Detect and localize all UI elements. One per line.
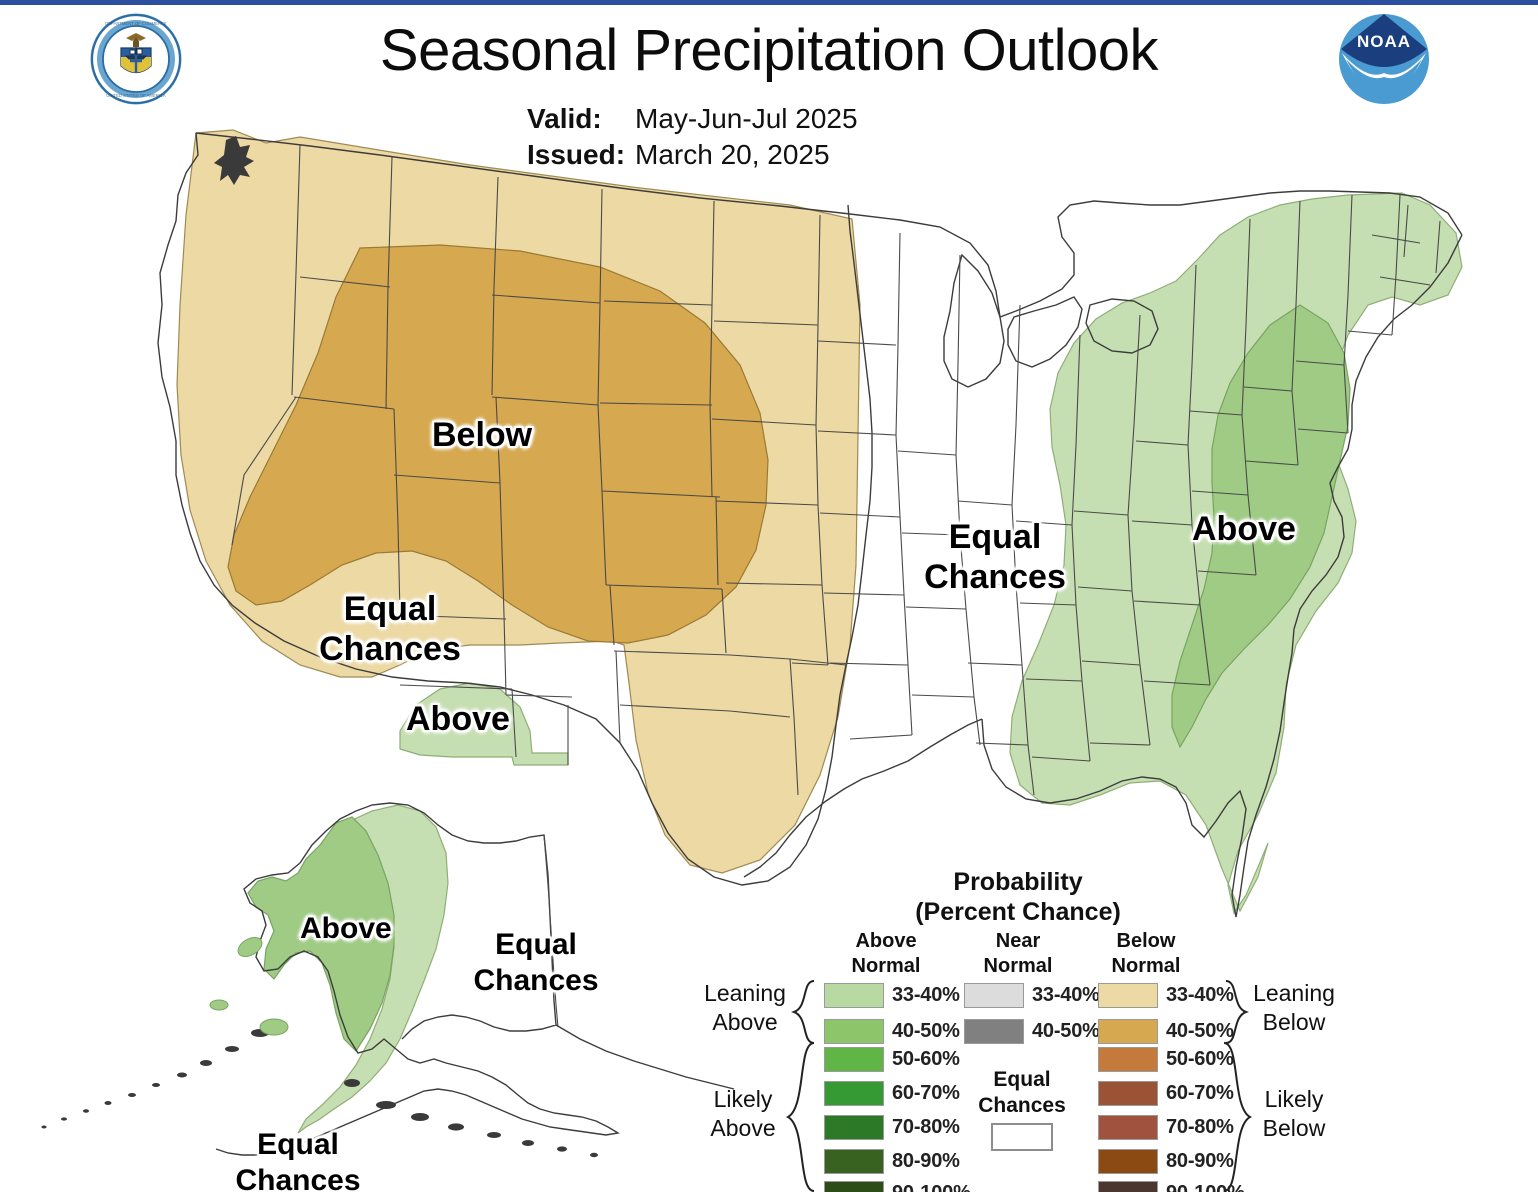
legend-likely-above-label: Likely Above — [700, 1085, 786, 1143]
eq-west-line2: Chances — [300, 629, 480, 669]
pct-above-33-40: 33-40% — [892, 983, 960, 1008]
pct-above-80-90: 80-90% — [892, 1149, 960, 1174]
pct-above-50-60: 50-60% — [892, 1047, 960, 1072]
map-label-alaska-equal-chances-ne: Equal Chances — [446, 927, 626, 999]
legend: Probability (Percent Chance) Above Norma… — [700, 867, 1340, 1192]
colhead-below-line1: Below — [1086, 929, 1206, 954]
likely-below-line1: Likely — [1250, 1085, 1338, 1114]
swatch-below-80-90 — [1098, 1149, 1158, 1174]
swatch-below-40-50 — [1098, 1019, 1158, 1044]
colhead-above-line2: Normal — [826, 954, 946, 979]
likely-above-line1: Likely — [700, 1085, 786, 1114]
eq-central-line1: Equal — [900, 517, 1090, 557]
map-label-alaska-equal-chances-sw: Equal Chances — [208, 1127, 388, 1192]
brace-leaning-above — [790, 979, 816, 1045]
leaning-below-line2: Below — [1248, 1008, 1340, 1037]
ak-eq-sw-line2: Chances — [208, 1163, 388, 1192]
pct-below-80-90: 80-90% — [1166, 1149, 1234, 1174]
swatch-below-70-80 — [1098, 1115, 1158, 1140]
likely-below-line2: Below — [1250, 1114, 1338, 1143]
ak-eq-ne-line1: Equal — [446, 927, 626, 963]
legend-equal-chances-swatch — [991, 1123, 1053, 1151]
map-label-above-southwest: Above — [406, 699, 510, 739]
map-label-equal-chances-central: Equal Chances — [900, 517, 1090, 597]
colhead-above-normal: Above Normal — [826, 929, 946, 979]
map-label-alaska-above: Above — [300, 909, 392, 949]
leaning-below-line1: Leaning — [1248, 979, 1340, 1008]
swatch-above-40-50 — [824, 1019, 884, 1044]
eq-central-line2: Chances — [900, 557, 1090, 597]
swatch-below-33-40 — [1098, 983, 1158, 1008]
swatch-above-70-80 — [824, 1115, 884, 1140]
pct-above-60-70: 60-70% — [892, 1081, 960, 1106]
swatch-near-33-40 — [964, 983, 1024, 1008]
map-label-above-east: Above — [1192, 509, 1296, 549]
pct-below-33-40: 33-40% — [1166, 983, 1234, 1008]
swatch-above-60-70 — [824, 1081, 884, 1106]
pct-below-60-70: 60-70% — [1166, 1081, 1234, 1106]
swatch-near-40-50 — [964, 1019, 1024, 1044]
brace-likely-above — [784, 1041, 816, 1192]
swatch-above-80-90 — [824, 1149, 884, 1174]
pct-below-70-80: 70-80% — [1166, 1115, 1234, 1140]
legend-likely-below-label: Likely Below — [1250, 1085, 1338, 1143]
legend-leaning-above-label: Leaning Above — [700, 979, 790, 1037]
ak-eq-ne-line2: Chances — [446, 963, 626, 999]
likely-above-line2: Above — [700, 1114, 786, 1143]
pct-near-33-40: 33-40% — [1032, 983, 1100, 1008]
legend-equal-chances-label: Equal Chances — [962, 1067, 1082, 1119]
precipitation-outlook-page: DEPARTMENT OF COMMERCE UNITED STATES OF … — [0, 0, 1538, 1192]
colhead-above-line1: Above — [826, 929, 946, 954]
legend-leaning-below-label: Leaning Below — [1248, 979, 1340, 1037]
colhead-near-line1: Near — [958, 929, 1078, 954]
swatch-below-60-70 — [1098, 1081, 1158, 1106]
eq-west-line1: Equal — [300, 589, 480, 629]
map-label-equal-chances-west: Equal Chances — [300, 589, 480, 669]
legend-title-line1: Probability — [828, 867, 1208, 897]
legend-title-line2: (Percent Chance) — [828, 897, 1208, 927]
eqc-line2: Chances — [962, 1093, 1082, 1119]
colhead-near-line2: Normal — [958, 954, 1078, 979]
pct-above-70-80: 70-80% — [892, 1115, 960, 1140]
swatch-below-50-60 — [1098, 1047, 1158, 1072]
ak-eq-sw-line1: Equal — [208, 1127, 388, 1163]
colhead-below-normal: Below Normal — [1086, 929, 1206, 979]
map-label-below: Below — [432, 415, 532, 455]
colhead-below-line2: Normal — [1086, 954, 1206, 979]
pct-near-40-50: 40-50% — [1032, 1019, 1100, 1044]
pct-below-40-50: 40-50% — [1166, 1019, 1234, 1044]
leaning-above-line2: Above — [700, 1008, 790, 1037]
swatch-above-33-40 — [824, 983, 884, 1008]
pct-above-40-50: 40-50% — [892, 1019, 960, 1044]
legend-column-headings: Above Normal Near Normal Below Normal — [700, 929, 1340, 981]
eqc-line1: Equal — [962, 1067, 1082, 1093]
pct-below-50-60: 50-60% — [1166, 1047, 1234, 1072]
colhead-near-normal: Near Normal — [958, 929, 1078, 979]
swatch-above-50-60 — [824, 1047, 884, 1072]
leaning-above-line1: Leaning — [700, 979, 790, 1008]
